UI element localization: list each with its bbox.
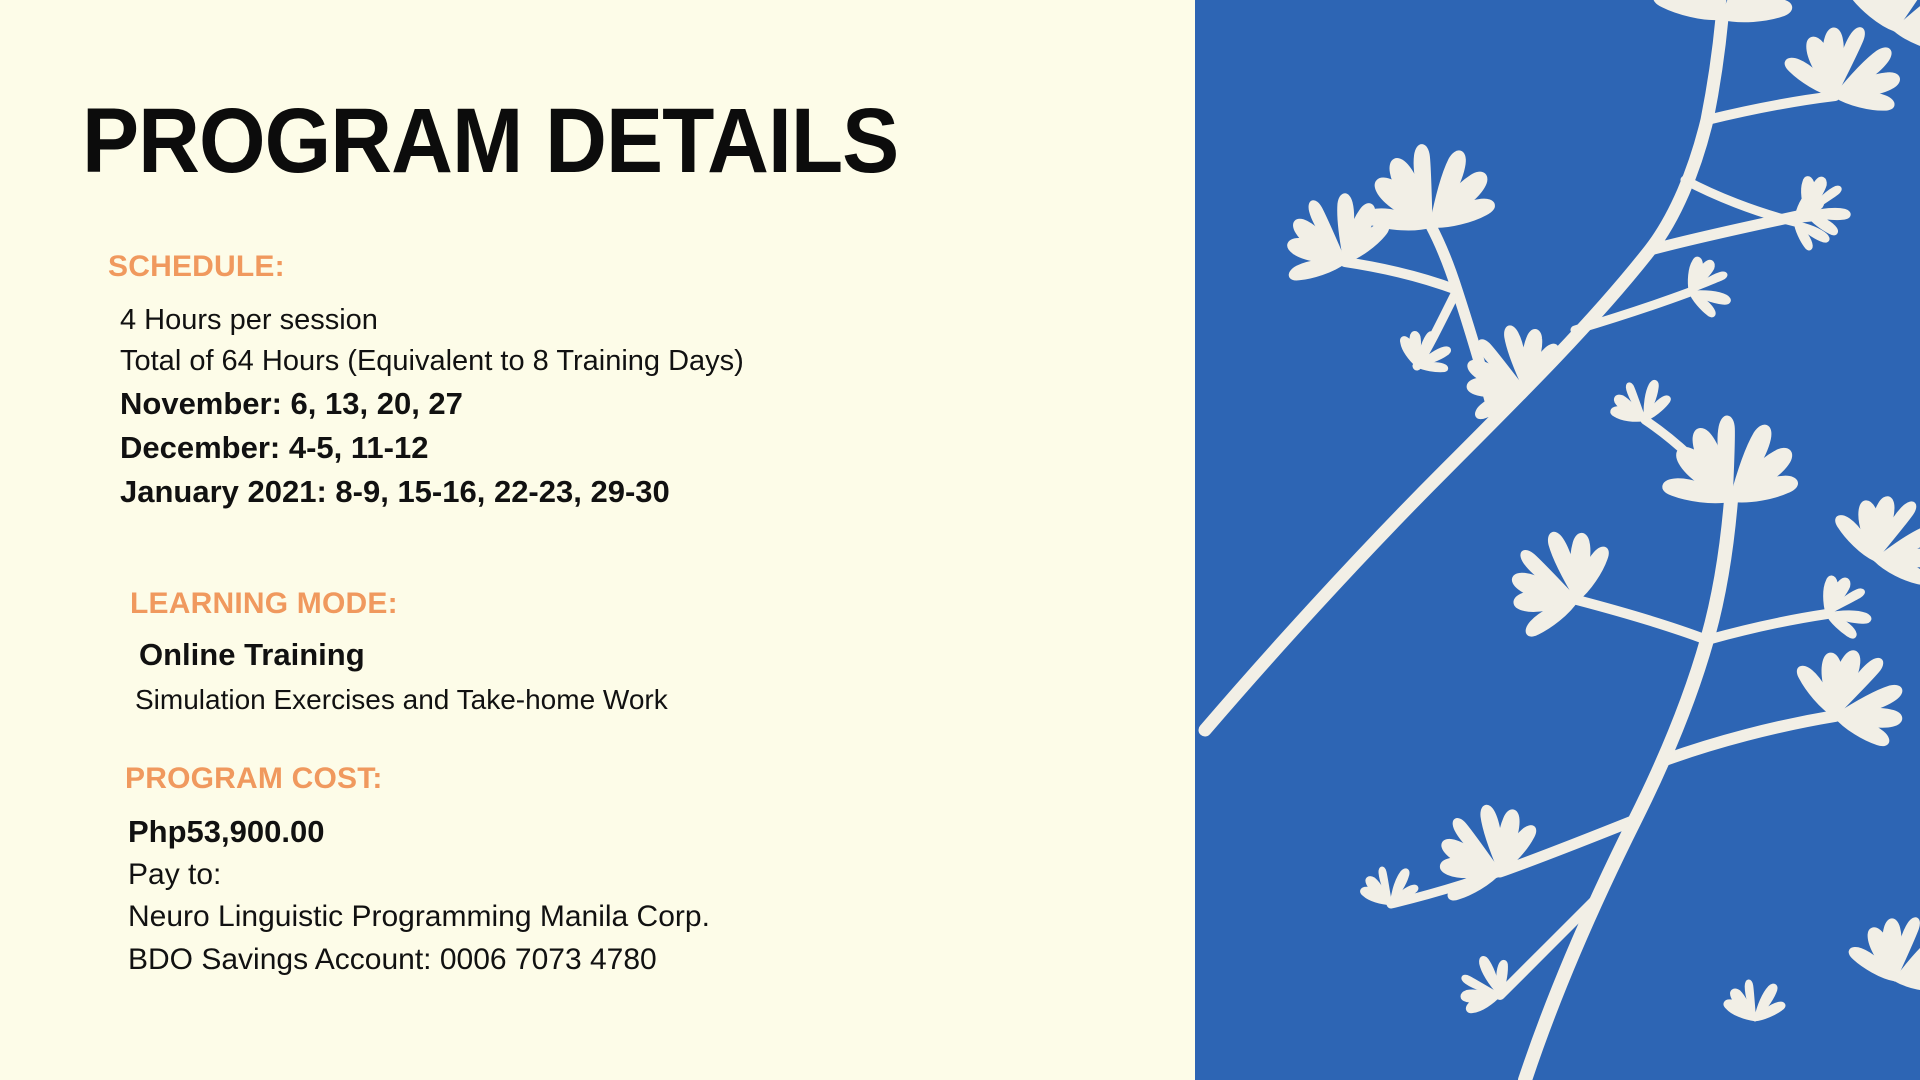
learning-mode-value: Online Training bbox=[139, 633, 1195, 677]
payee-name: Neuro Linguistic Programming Manila Corp… bbox=[128, 896, 1195, 939]
program-cost-body: Php53,900.00 Pay to: Neuro Linguistic Pr… bbox=[128, 810, 1195, 982]
section-program-cost: PROGRAM COST: Php53,900.00 Pay to: Neuro… bbox=[0, 760, 1195, 981]
schedule-date-november: November: 6, 13, 20, 27 bbox=[120, 382, 1195, 426]
section-learning-mode: LEARNING MODE: Online Training Simulatio… bbox=[0, 585, 1195, 719]
learning-mode-heading: LEARNING MODE: bbox=[130, 585, 1195, 623]
content-panel: PROGRAM DETAILS SCHEDULE: 4 Hours per se… bbox=[0, 0, 1195, 1080]
program-cost-heading: PROGRAM COST: bbox=[125, 760, 1195, 798]
slide: PROGRAM DETAILS SCHEDULE: 4 Hours per se… bbox=[0, 0, 1920, 1080]
bank-account: BDO Savings Account: 0006 7073 4780 bbox=[128, 939, 1195, 982]
page-title: PROGRAM DETAILS bbox=[82, 95, 898, 187]
schedule-line: 4 Hours per session bbox=[120, 300, 1195, 341]
schedule-heading: SCHEDULE: bbox=[108, 248, 1195, 286]
pay-to-label: Pay to: bbox=[128, 854, 1195, 897]
floral-sprig-icon bbox=[1195, 0, 1920, 1080]
decorative-blue-panel bbox=[1195, 0, 1920, 1080]
schedule-date-december: December: 4-5, 11-12 bbox=[120, 426, 1195, 470]
learning-mode-detail: Simulation Exercises and Take-home Work bbox=[135, 680, 1195, 720]
schedule-line: Total of 64 Hours (Equivalent to 8 Train… bbox=[120, 341, 1195, 382]
schedule-date-january: January 2021: 8-9, 15-16, 22-23, 29-30 bbox=[120, 470, 1195, 514]
program-cost-amount: Php53,900.00 bbox=[128, 810, 1195, 854]
schedule-body: 4 Hours per session Total of 64 Hours (E… bbox=[120, 300, 1195, 514]
section-schedule: SCHEDULE: 4 Hours per session Total of 6… bbox=[0, 248, 1195, 514]
learning-mode-body: Online Training Simulation Exercises and… bbox=[133, 633, 1195, 720]
